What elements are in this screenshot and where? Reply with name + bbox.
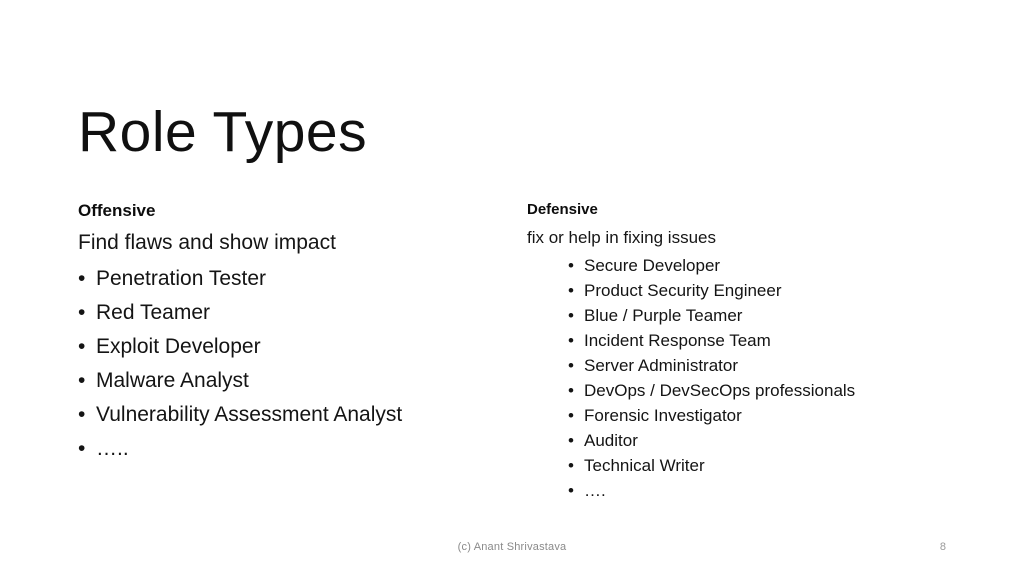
list-item: • Exploit Developer <box>78 330 498 364</box>
slide-canvas: Role Types Offensive Find flaws and show… <box>0 0 1024 576</box>
bullet-icon: • <box>568 453 574 478</box>
bullet-icon: • <box>78 296 85 330</box>
offensive-role-list: • Penetration Tester • Red Teamer • Expl… <box>78 262 498 466</box>
list-item-label: Secure Developer <box>584 253 720 278</box>
list-item-label: …. <box>584 478 606 503</box>
column-heading-offensive: Offensive <box>78 200 498 222</box>
footer-credit: (c) Anant Shrivastava <box>0 539 1024 555</box>
list-item: • DevOps / DevSecOps professionals <box>568 378 957 403</box>
list-item-label: Technical Writer <box>584 453 705 478</box>
list-item: • Penetration Tester <box>78 262 498 296</box>
bullet-icon: • <box>568 478 574 503</box>
defensive-role-list: • Secure Developer • Product Security En… <box>568 253 957 503</box>
list-item-label: ….. <box>96 432 129 466</box>
list-item: • Secure Developer <box>568 253 957 278</box>
bullet-icon: • <box>568 278 574 303</box>
list-item-label: DevOps / DevSecOps professionals <box>584 378 855 403</box>
list-item: • Technical Writer <box>568 453 957 478</box>
column-offensive: Offensive Find flaws and show impact • P… <box>78 200 498 466</box>
bullet-icon: • <box>78 330 85 364</box>
bullet-icon: • <box>568 428 574 453</box>
bullet-icon: • <box>78 364 85 398</box>
column-heading-defensive: Defensive <box>527 200 957 220</box>
bullet-icon: • <box>78 398 85 432</box>
list-item-label: Server Administrator <box>584 353 738 378</box>
list-item-label: Incident Response Team <box>584 328 771 353</box>
list-item-label: Forensic Investigator <box>584 403 742 428</box>
list-item: • Product Security Engineer <box>568 278 957 303</box>
list-item-label: Product Security Engineer <box>584 278 782 303</box>
list-item-label: Blue / Purple Teamer <box>584 303 742 328</box>
list-item: • Red Teamer <box>78 296 498 330</box>
list-item: • Auditor <box>568 428 957 453</box>
bullet-icon: • <box>568 403 574 428</box>
list-item: • Malware Analyst <box>78 364 498 398</box>
list-item: • ….. <box>78 432 498 466</box>
column-intro-defensive: fix or help in fixing issues <box>527 226 957 249</box>
column-defensive: Defensive fix or help in fixing issues •… <box>527 200 957 503</box>
list-item-label: Auditor <box>584 428 638 453</box>
list-item: • Forensic Investigator <box>568 403 957 428</box>
bullet-icon: • <box>568 328 574 353</box>
list-item: • Blue / Purple Teamer <box>568 303 957 328</box>
page-number: 8 <box>932 539 946 555</box>
list-item-label: Malware Analyst <box>96 364 249 398</box>
list-item-label: Red Teamer <box>96 296 210 330</box>
list-item: • Server Administrator <box>568 353 957 378</box>
list-item-label: Penetration Tester <box>96 262 266 296</box>
list-item: • …. <box>568 478 957 503</box>
page-title: Role Types <box>78 104 367 161</box>
list-item: • Vulnerability Assessment Analyst <box>78 398 498 432</box>
bullet-icon: • <box>568 253 574 278</box>
list-item-label: Vulnerability Assessment Analyst <box>96 398 402 432</box>
bullet-icon: • <box>78 262 85 296</box>
list-item: • Incident Response Team <box>568 328 957 353</box>
bullet-icon: • <box>78 432 85 466</box>
list-item-label: Exploit Developer <box>96 330 261 364</box>
column-intro-offensive: Find flaws and show impact <box>78 229 498 257</box>
bullet-icon: • <box>568 353 574 378</box>
bullet-icon: • <box>568 303 574 328</box>
bullet-icon: • <box>568 378 574 403</box>
